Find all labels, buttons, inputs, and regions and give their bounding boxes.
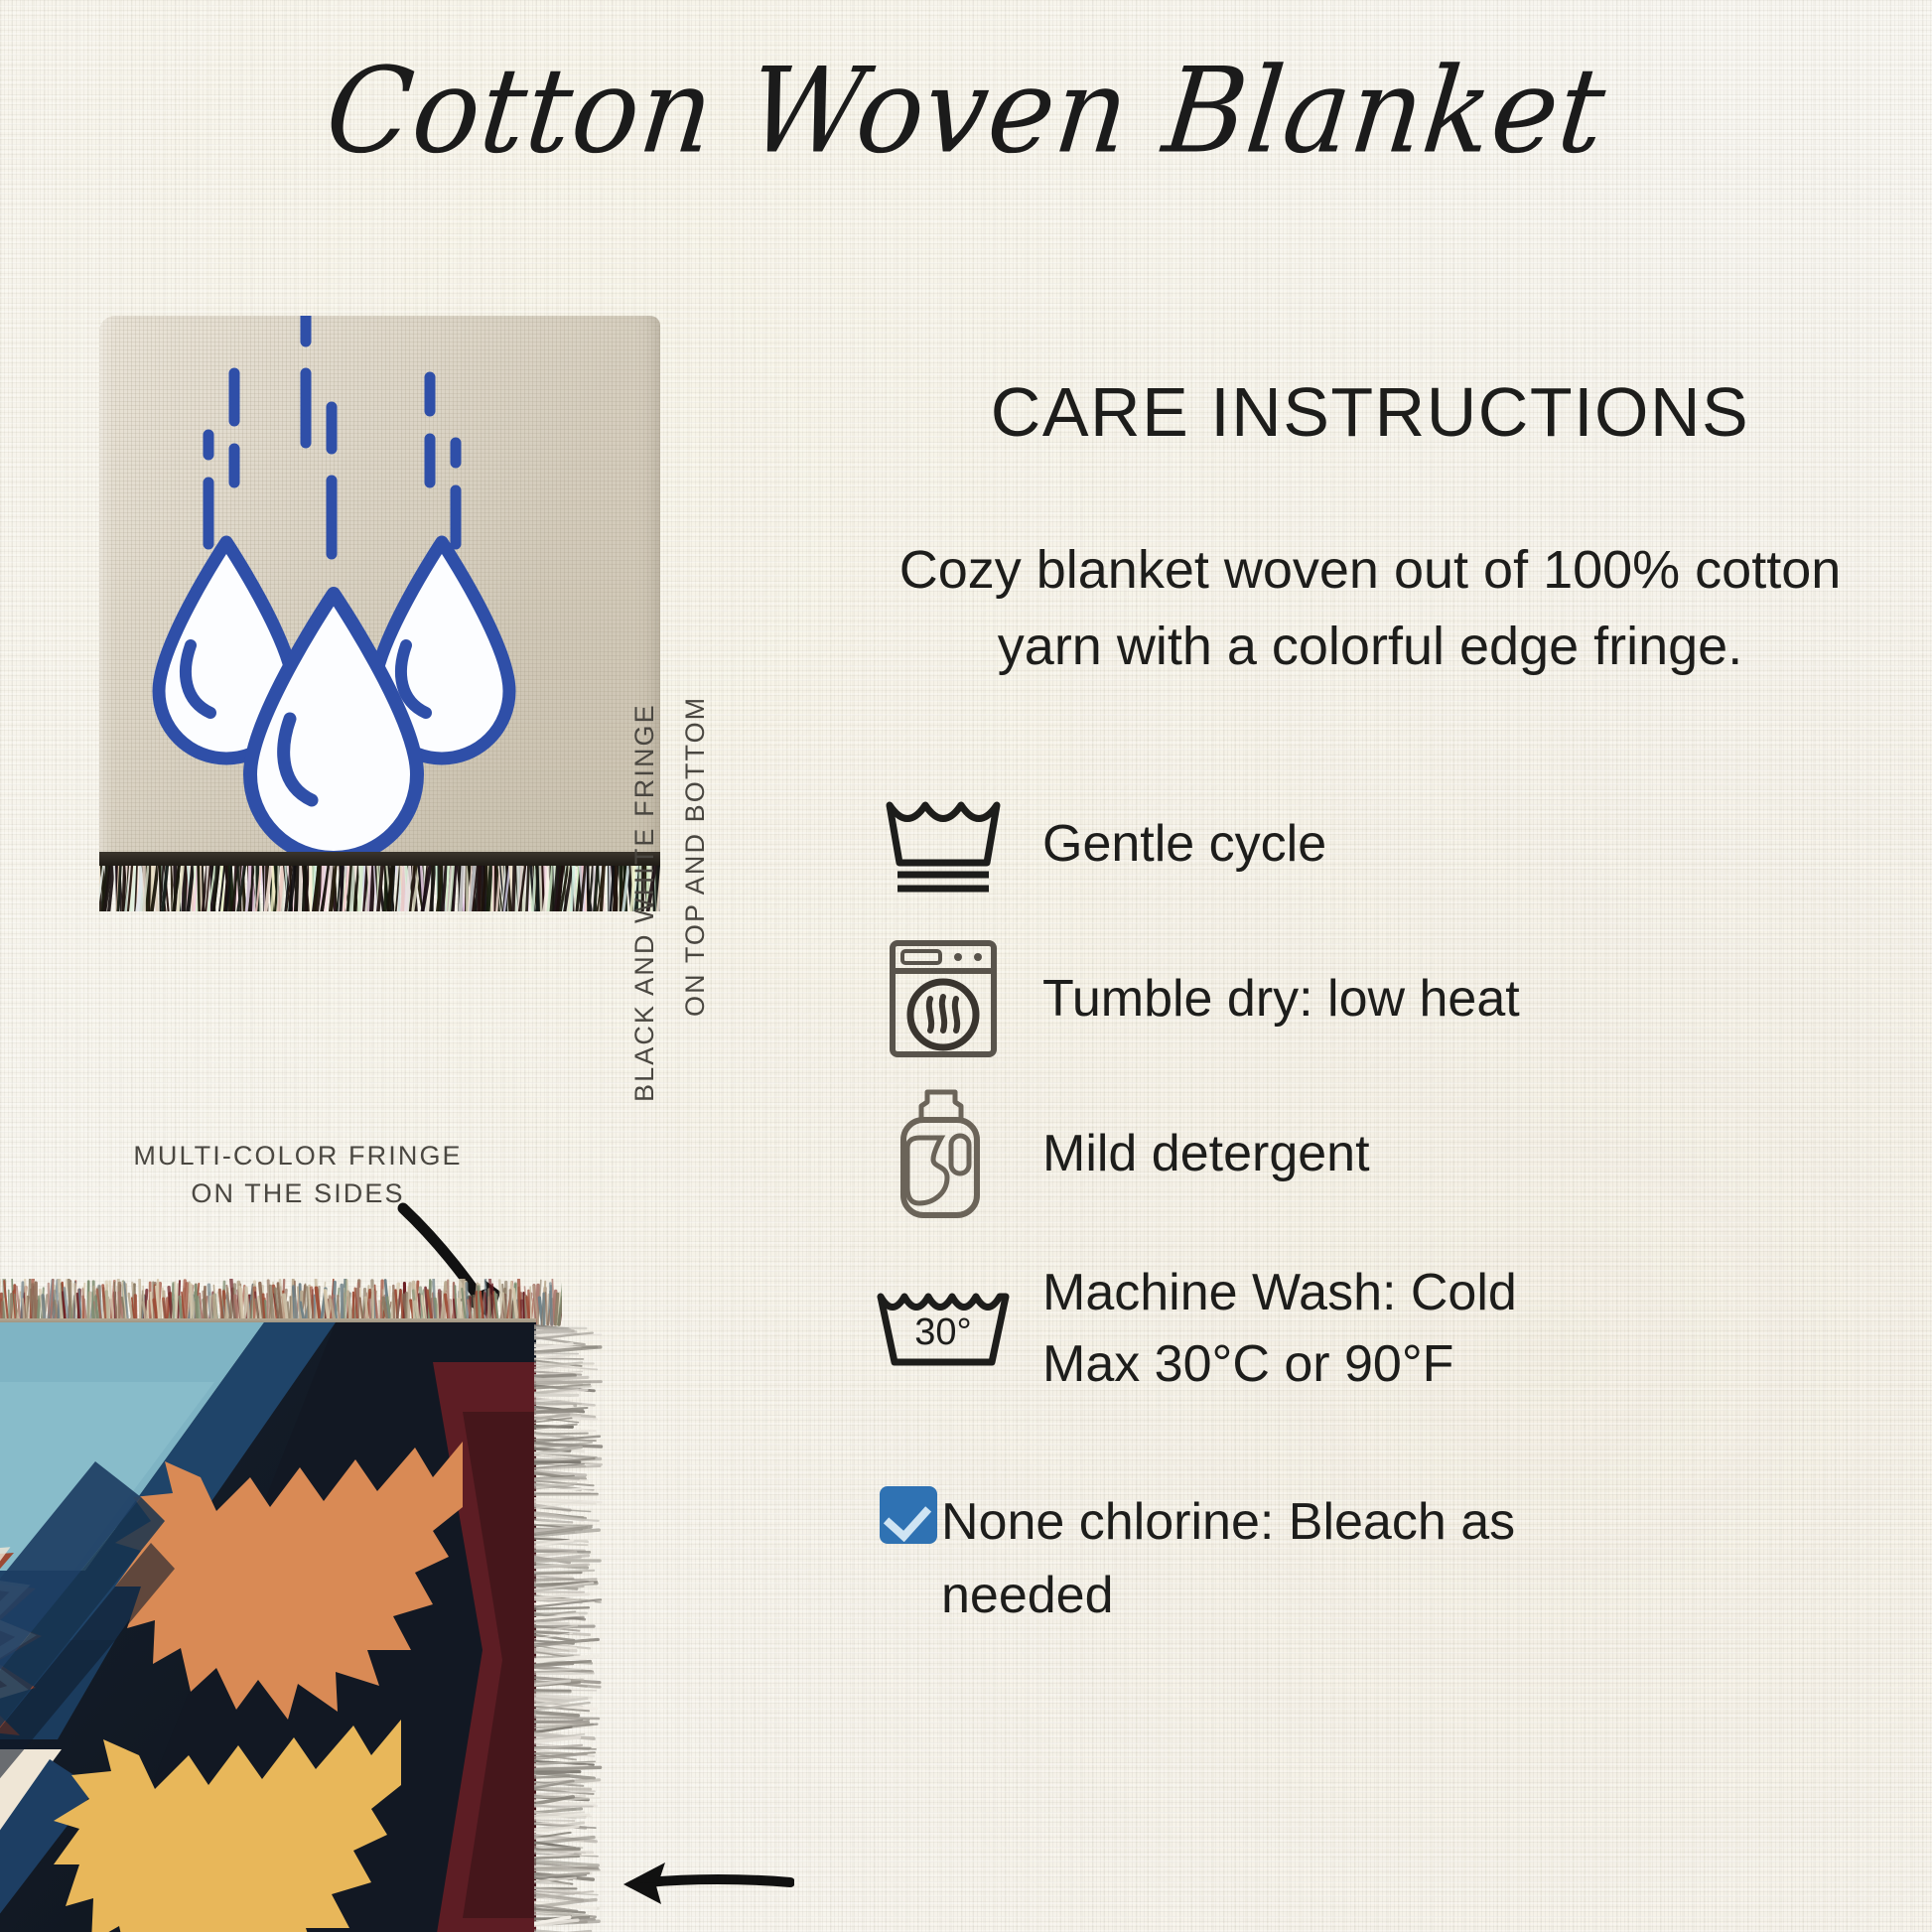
infographic-page: Cotton Woven Blanket (0, 0, 1932, 1932)
care-item-label-line1: Machine Wash: Cold (1042, 1264, 1517, 1321)
care-item-mild-detergent: Mild detergent (844, 1079, 1896, 1228)
wash-basin-30-degrees-icon: 30° (844, 1264, 1042, 1393)
care-item-label: Mild detergent (1042, 1118, 1370, 1190)
care-item-tumble-dry: Tumble dry: low heat (844, 924, 1896, 1073)
care-instructions-panel: CARE INSTRUCTIONS Cozy blanket woven out… (844, 377, 1896, 1633)
care-item-label: Tumble dry: low heat (1042, 963, 1520, 1035)
label-multicolor-fringe: MULTI-COLOR FRINGE ON THE SIDES (60, 1137, 536, 1213)
product-photo-raindrop-blanket (99, 316, 660, 911)
page-title: Cotton Woven Blanket (0, 42, 1932, 181)
label-multicolor-fringe-line2: ON THE SIDES (60, 1174, 536, 1212)
black-white-fringe (99, 852, 660, 911)
care-item-gentle-cycle: Gentle cycle (844, 769, 1896, 918)
care-item-machine-wash-cold: 30° Machine Wash: Cold Max 30°C or 90°F (844, 1234, 1896, 1423)
care-instructions-heading: CARE INSTRUCTIONS (844, 377, 1896, 447)
label-black-white-fringe-line2: ON TOP AND BOTTOM (670, 645, 721, 1017)
care-item-no-chlorine-bleach: None chlorine: Bleach as needed (844, 1486, 1896, 1633)
care-item-label-line2: Max 30°C or 90°F (1042, 1335, 1453, 1393)
raindrops-motif (99, 316, 660, 867)
care-item-label: Gentle cycle (1042, 808, 1326, 881)
tumble-dryer-icon (844, 934, 1042, 1063)
bleach-label-line2: needed (941, 1567, 1114, 1624)
label-black-white-fringe-line1: BLACK AND WHITE FRINGE (620, 645, 670, 1102)
wash-basin-gentle-cycle-icon (844, 779, 1042, 908)
product-description: Cozy blanket woven out of 100% cotton ya… (844, 532, 1896, 684)
checked-checkbox-icon[interactable] (880, 1486, 937, 1544)
care-instruction-list: Gentle cycle (844, 769, 1896, 1423)
white-fringe-side (534, 1324, 606, 1932)
label-black-white-fringe: BLACK AND WHITE FRINGE ON TOP AND BOTTOM (620, 645, 739, 1102)
aztec-pattern (0, 1322, 536, 1932)
wash-temperature-label: 30° (914, 1311, 971, 1353)
label-multicolor-fringe-line1: MULTI-COLOR FRINGE (60, 1137, 536, 1174)
product-photo-aztec-blanket (0, 1279, 661, 1932)
bleach-label-line1: None chlorine: Bleach as (941, 1493, 1515, 1551)
detergent-bottle-icon (844, 1089, 1042, 1218)
